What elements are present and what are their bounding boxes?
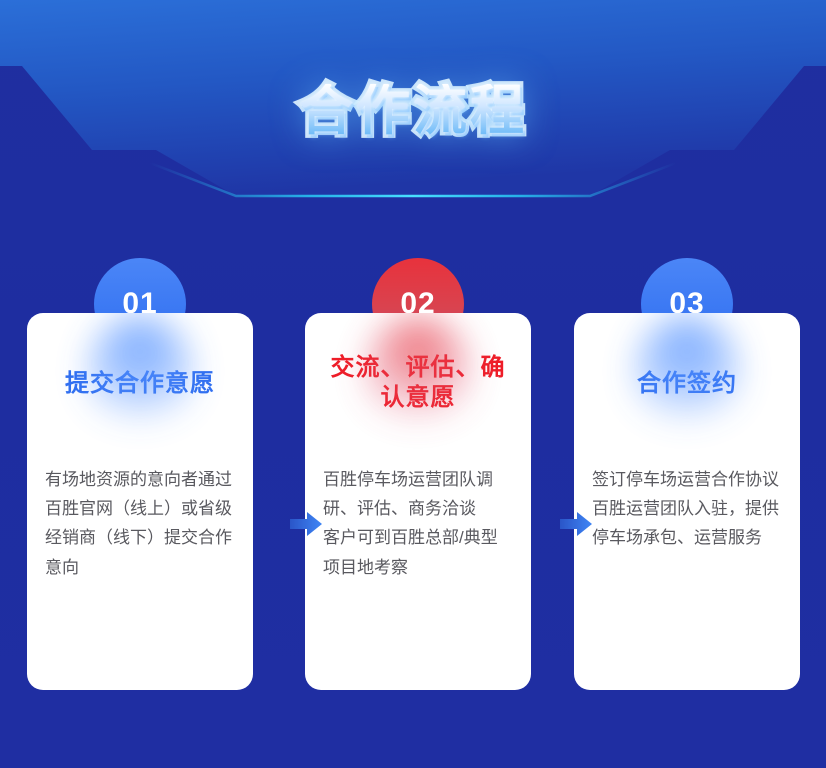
step-paragraph: 百胜运营团队入驻，提供停车场承包、运营服务 xyxy=(592,494,782,552)
step-card-03[interactable]: 合作签约 签订停车场运营合作协议 百胜运营团队入驻，提供停车场承包、运营服务 xyxy=(574,313,800,690)
step-body-02: 百胜停车场运营团队调研、评估、商务洽谈 客户可到百胜总部/典型项目地考察 xyxy=(323,465,513,582)
step-body-03: 签订停车场运营合作协议 百胜运营团队入驻，提供停车场承包、运营服务 xyxy=(592,465,782,553)
step-heading-03: 合作签约 xyxy=(590,369,784,399)
step-heading-02: 交流、评估、确认意愿 xyxy=(321,353,515,413)
step-heading-01: 提交合作意愿 xyxy=(43,369,237,399)
page-title: 合作流程 xyxy=(0,84,826,138)
banner-glow-line-right xyxy=(413,163,676,196)
step-card-01[interactable]: 提交合作意愿 有场地资源的意向者通过百胜官网（线上）或省级经销商（线下）提交合作… xyxy=(27,313,253,690)
process-step-02: 02 交流、评估、确认意愿 百胜停车场运营团队调研、评估、商务洽谈 客户可到百胜… xyxy=(305,258,531,690)
arrow-right-icon xyxy=(290,510,322,538)
cooperation-process-infographic: 合作流程 合作流程 01 提交合作意愿 有场地资源的意向者通过百胜官网（线上）或… xyxy=(0,0,826,768)
step-paragraph: 百胜停车场运营团队调研、评估、商务洽谈 xyxy=(323,465,513,523)
banner-glow-line-left xyxy=(150,163,413,196)
step-paragraph: 签订停车场运营合作协议 xyxy=(592,465,782,494)
step-card-02[interactable]: 交流、评估、确认意愿 百胜停车场运营团队调研、评估、商务洽谈 客户可到百胜总部/… xyxy=(305,313,531,690)
process-steps: 01 提交合作意愿 有场地资源的意向者通过百胜官网（线上）或省级经销商（线下）提… xyxy=(27,258,800,690)
step-body-01: 有场地资源的意向者通过百胜官网（线上）或省级经销商（线下）提交合作意向 xyxy=(45,465,235,582)
step-paragraph: 客户可到百胜总部/典型项目地考察 xyxy=(323,523,513,581)
process-step-01: 01 提交合作意愿 有场地资源的意向者通过百胜官网（线上）或省级经销商（线下）提… xyxy=(27,258,253,690)
process-step-03: 03 合作签约 签订停车场运营合作协议 百胜运营团队入驻，提供停车场承包、运营服… xyxy=(574,258,800,690)
arrow-right-icon xyxy=(560,510,592,538)
step-paragraph: 有场地资源的意向者通过百胜官网（线上）或省级经销商（线下）提交合作意向 xyxy=(45,465,235,582)
